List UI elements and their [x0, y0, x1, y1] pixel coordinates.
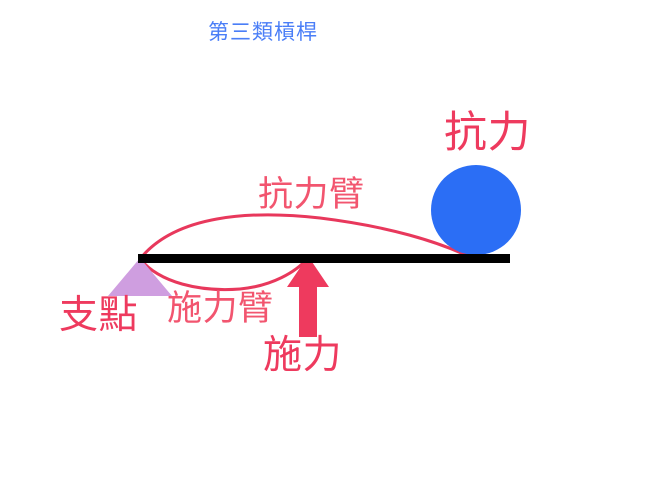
label-effort-arm: 施力臂 — [167, 292, 274, 327]
lever-bar — [138, 254, 510, 263]
label-effort-force: 施力 — [263, 336, 342, 375]
diagram-canvas: 第三類槓桿 抗力 抗力臂 支點 施力臂 施力 — [0, 0, 650, 487]
load-ball-icon — [431, 165, 521, 255]
lever-diagram-svg — [0, 0, 650, 487]
label-resistance-force: 抗力 — [444, 112, 531, 155]
label-resistance-arm: 抗力臂 — [258, 178, 365, 213]
label-fulcrum: 支點 — [59, 296, 138, 335]
page-title: 第三類槓桿 — [208, 22, 318, 43]
effort-arrow-icon — [287, 256, 329, 337]
